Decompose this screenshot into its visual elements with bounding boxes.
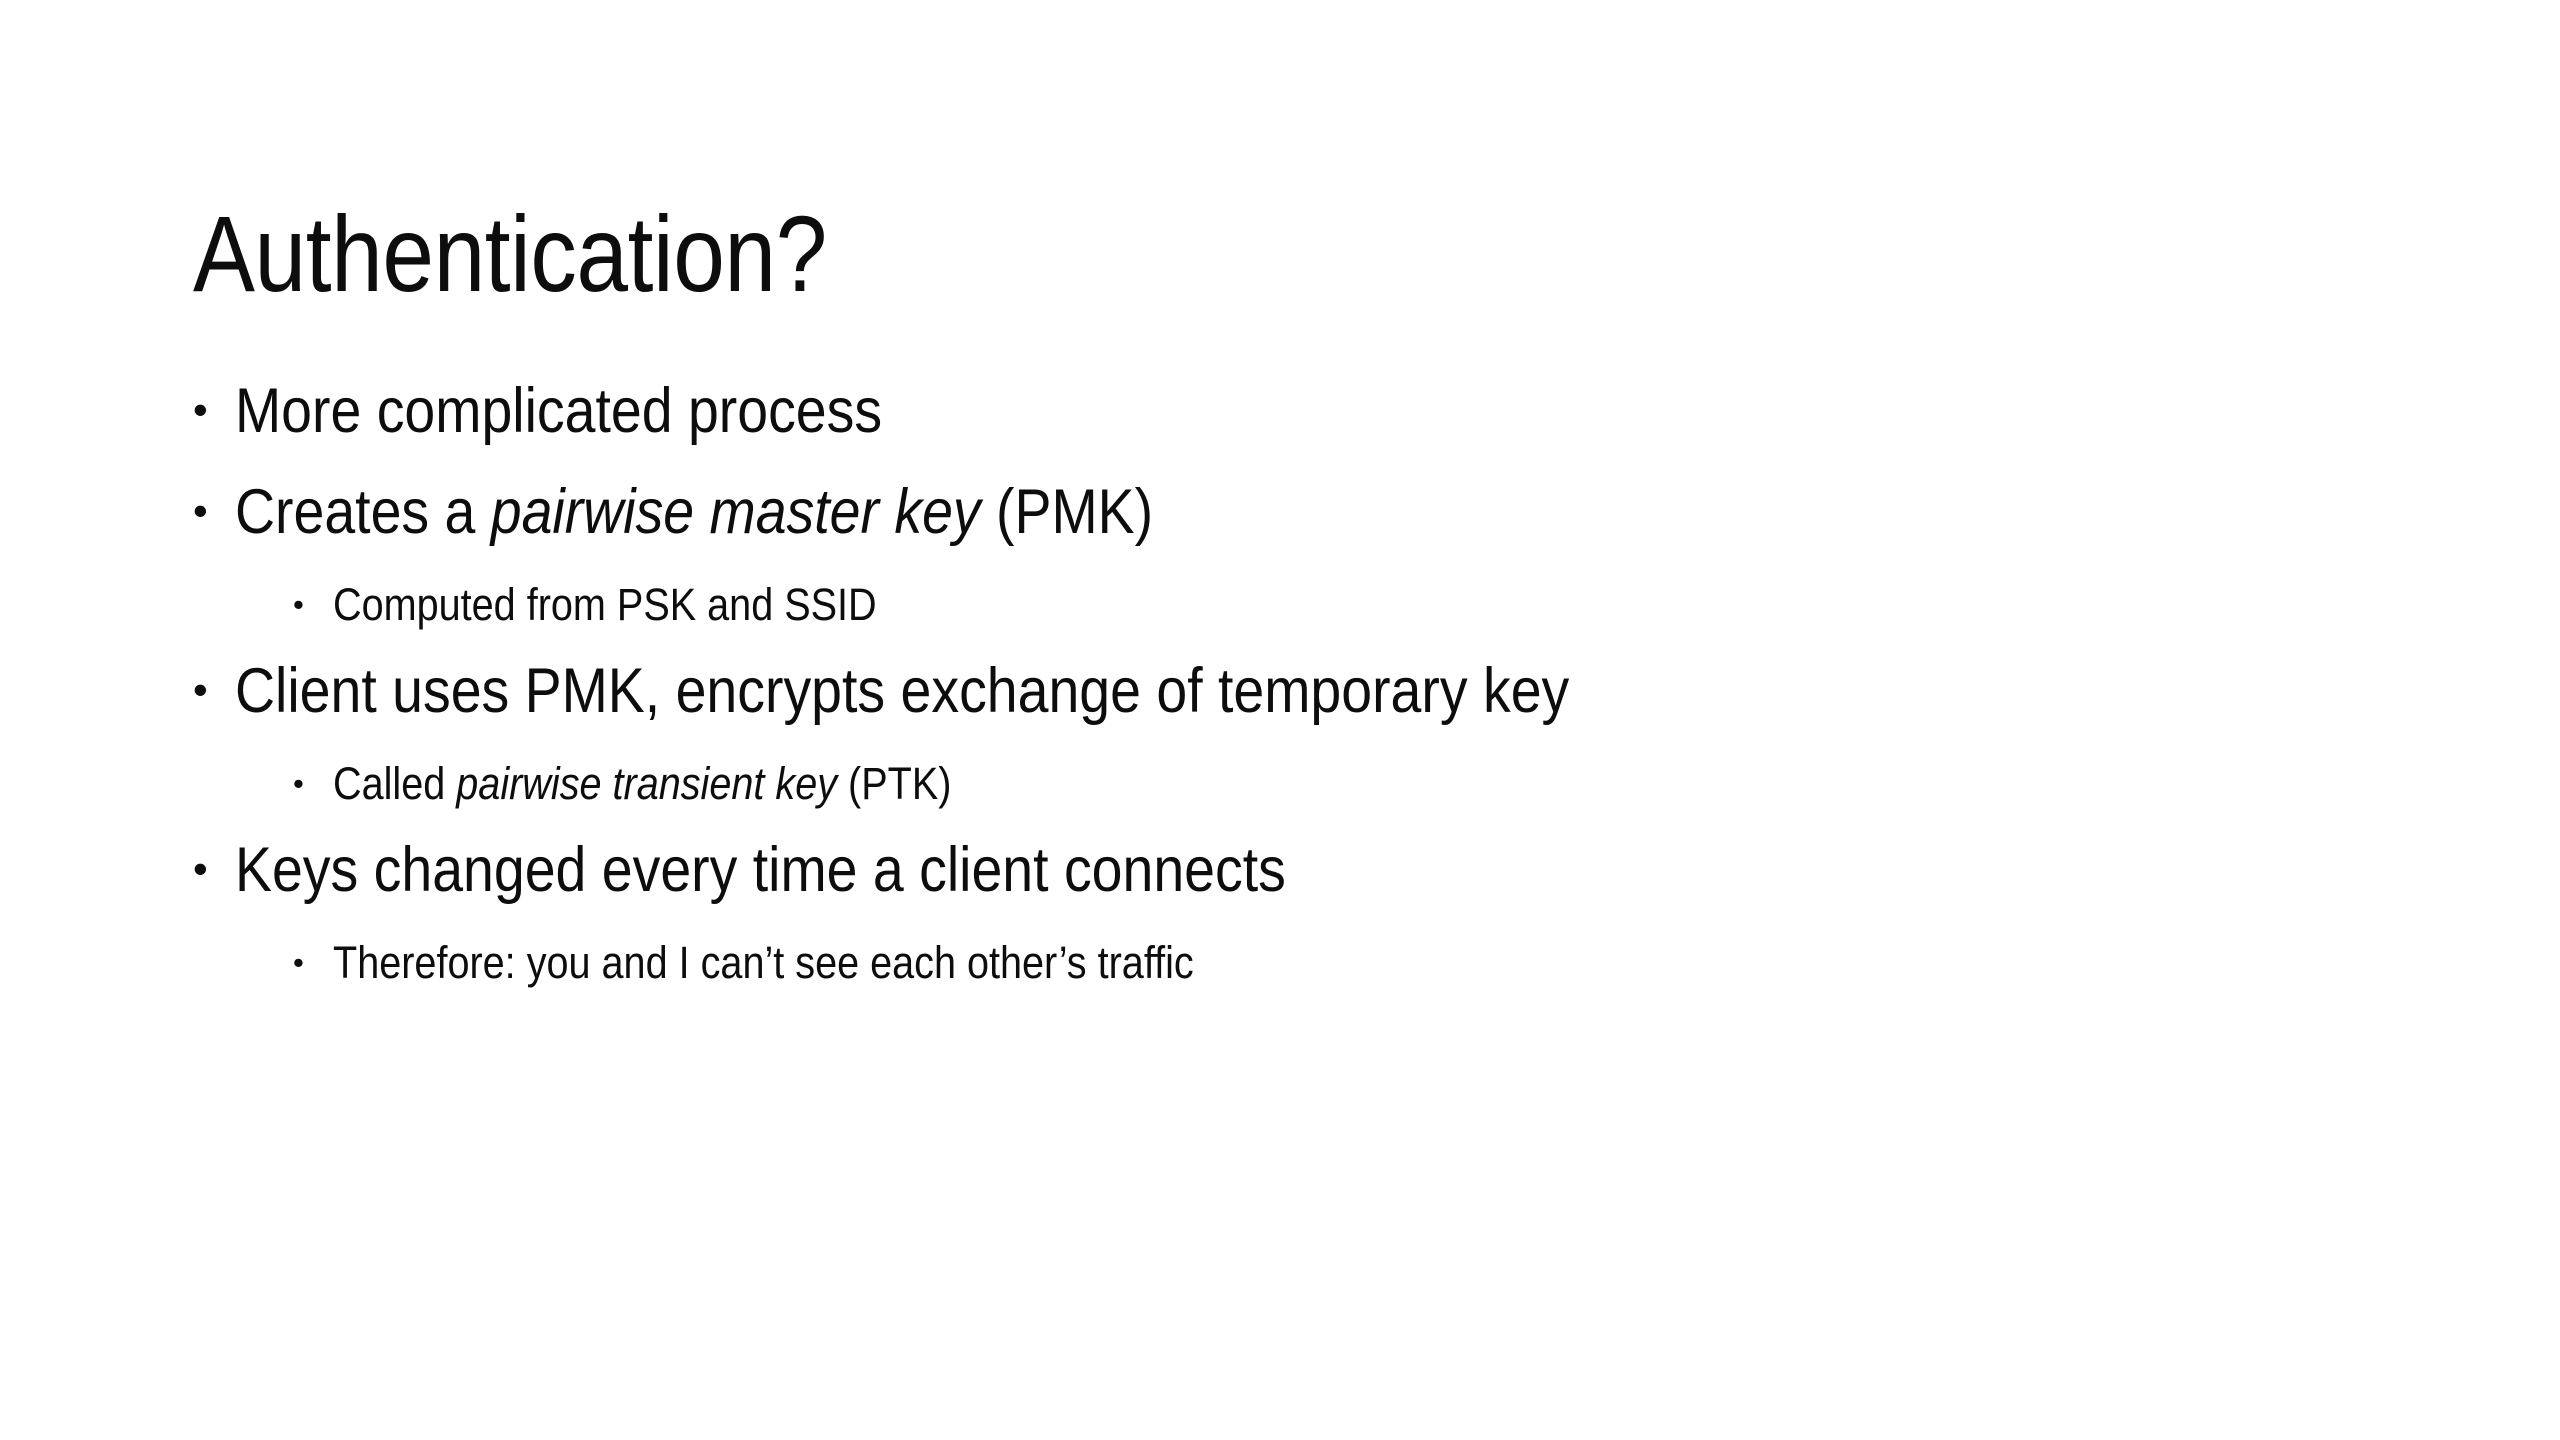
bullet-item-level1: •Client uses PMK, encrypts exchange of t…	[193, 660, 2393, 761]
bullet-marker-icon: •	[193, 389, 235, 431]
bullet-text-emphasis: pairwise master key	[491, 477, 981, 547]
bullet-marker-icon: •	[293, 589, 333, 620]
presentation-slide: Authentication? •More complicated proces…	[0, 0, 2560, 1440]
bullet-item-level1: •More complicated process	[193, 380, 2393, 481]
bullet-item-level1: •Keys changed every time a client connec…	[193, 839, 2393, 940]
bullet-text-segment: Therefore: you and I can’t see each othe…	[333, 937, 1194, 988]
bullet-text: Creates a pairwise master key (PMK)	[235, 481, 1153, 544]
bullet-marker-icon: •	[293, 947, 333, 978]
bullet-text: More complicated process	[235, 380, 882, 443]
bullet-text: Called pairwise transient key (PTK)	[333, 761, 951, 806]
bullet-text-segment: Computed from PSK and SSID	[333, 579, 877, 630]
slide-title: Authentication?	[193, 192, 2068, 316]
bullet-marker-icon: •	[293, 768, 333, 799]
bullet-text: Computed from PSK and SSID	[333, 582, 877, 627]
bullet-text: Client uses PMK, encrypts exchange of te…	[235, 660, 1569, 723]
bullet-text-emphasis: pairwise transient key	[456, 758, 837, 809]
bullet-item-level2: •Called pairwise transient key (PTK)	[193, 761, 2393, 839]
bullet-text: Keys changed every time a client connect…	[235, 839, 1286, 902]
slide-body-list: •More complicated process•Creates a pair…	[193, 380, 2393, 1018]
bullet-text-segment: Creates a	[235, 477, 491, 547]
bullet-text-segment: Client uses PMK, encrypts exchange of te…	[235, 656, 1569, 726]
bullet-item-level2: •Therefore: you and I can’t see each oth…	[193, 940, 2393, 1018]
bullet-text-segment: (PMK)	[981, 477, 1153, 547]
bullet-text: Therefore: you and I can’t see each othe…	[333, 940, 1194, 985]
bullet-item-level2: •Computed from PSK and SSID	[193, 582, 2393, 660]
bullet-text-segment: (PTK)	[837, 758, 951, 809]
bullet-item-level1: •Creates a pairwise master key (PMK)	[193, 481, 2393, 582]
bullet-marker-icon: •	[193, 848, 235, 890]
bullet-text-segment: Keys changed every time a client connect…	[235, 835, 1286, 905]
bullet-marker-icon: •	[193, 490, 235, 532]
bullet-marker-icon: •	[193, 669, 235, 711]
bullet-text-segment: More complicated process	[235, 376, 882, 446]
bullet-text-segment: Called	[333, 758, 456, 809]
